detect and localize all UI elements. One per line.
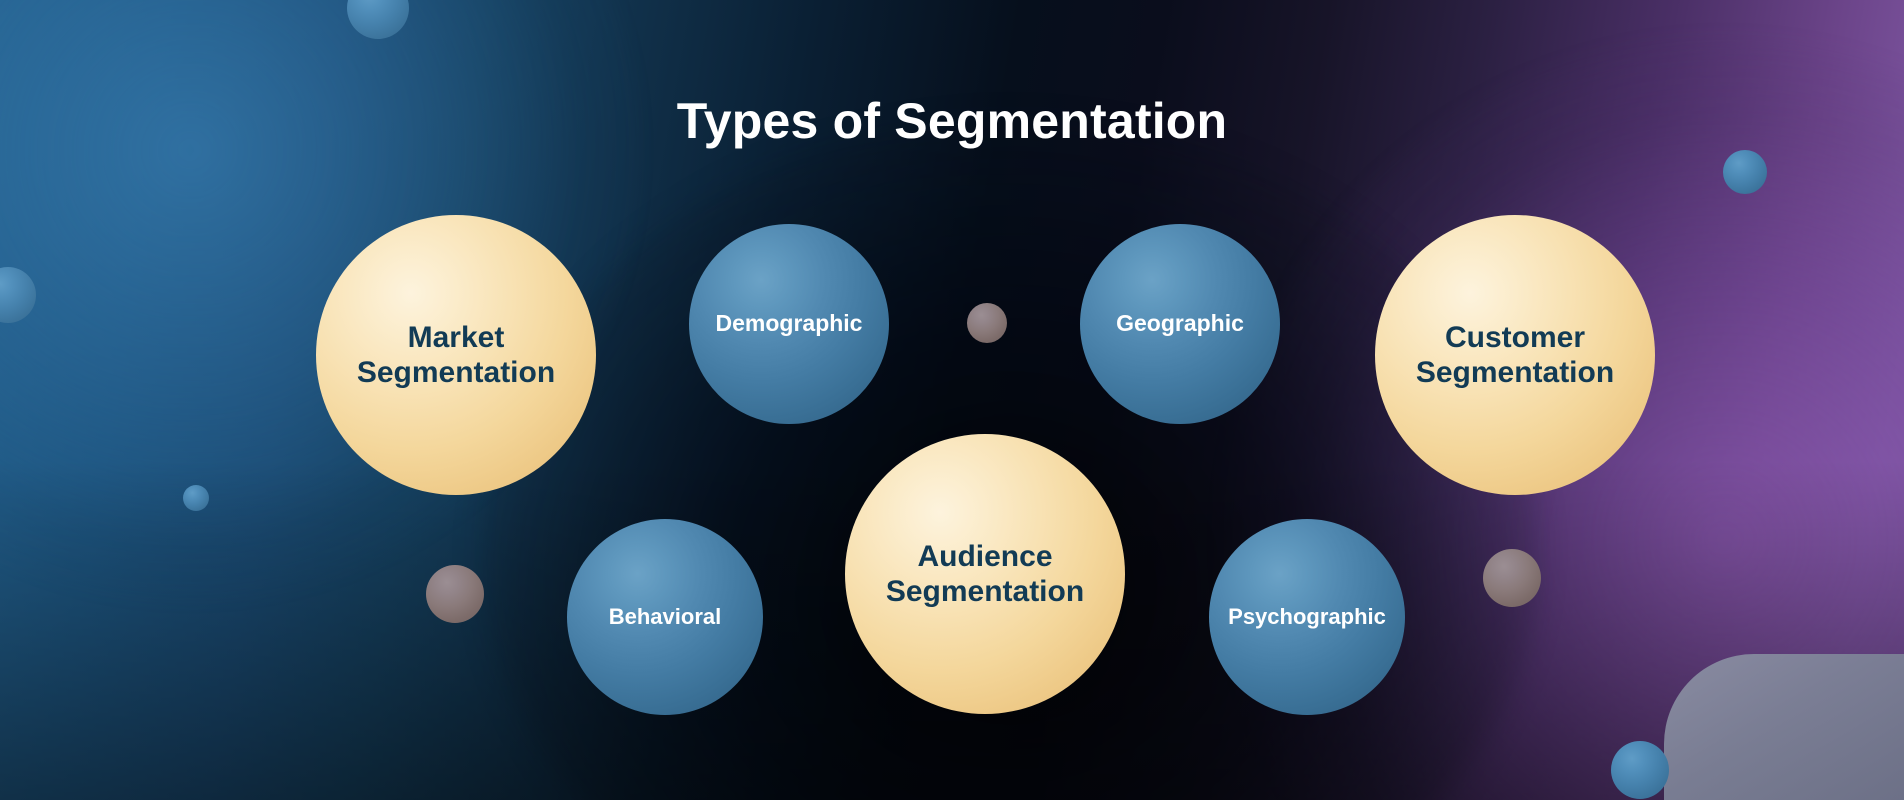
- page-title: Types of Segmentation: [0, 92, 1904, 150]
- decorative-bubble-accent-blue-top-right: [1723, 150, 1767, 194]
- bubble-demographic[interactable]: Demographic: [689, 224, 889, 424]
- decorative-bubble-accent-mauve-left: [426, 565, 484, 623]
- bubble-label: Geographic: [1116, 310, 1244, 337]
- bubble-customer-segmentation[interactable]: Customer Segmentation: [1375, 215, 1655, 495]
- bubble-label: Market Segmentation: [357, 320, 555, 391]
- decorative-bubble-accent-mauve-center: [967, 303, 1007, 343]
- corner-decoration-shape: [1664, 654, 1904, 800]
- bubble-geographic[interactable]: Geographic: [1080, 224, 1280, 424]
- bubble-behavioral[interactable]: Behavioral: [567, 519, 763, 715]
- decorative-bubble-accent-mauve-right: [1483, 549, 1541, 607]
- infographic-canvas: Types of Segmentation Market Segmentatio…: [0, 0, 1904, 800]
- decorative-bubble-accent-blue-bottom-right: [1611, 741, 1669, 799]
- bubble-market-segmentation[interactable]: Market Segmentation: [316, 215, 596, 495]
- bubble-label: Audience Segmentation: [886, 539, 1084, 610]
- bubble-label: Behavioral: [609, 604, 722, 630]
- decorative-bubble-accent-blue-small-left: [183, 485, 209, 511]
- bubble-label: Customer Segmentation: [1416, 320, 1614, 391]
- bubble-label: Demographic: [716, 310, 863, 337]
- bubble-label: Psychographic: [1228, 604, 1386, 630]
- bubble-audience-segmentation[interactable]: Audience Segmentation: [845, 434, 1125, 714]
- bubble-psychographic[interactable]: Psychographic: [1209, 519, 1405, 715]
